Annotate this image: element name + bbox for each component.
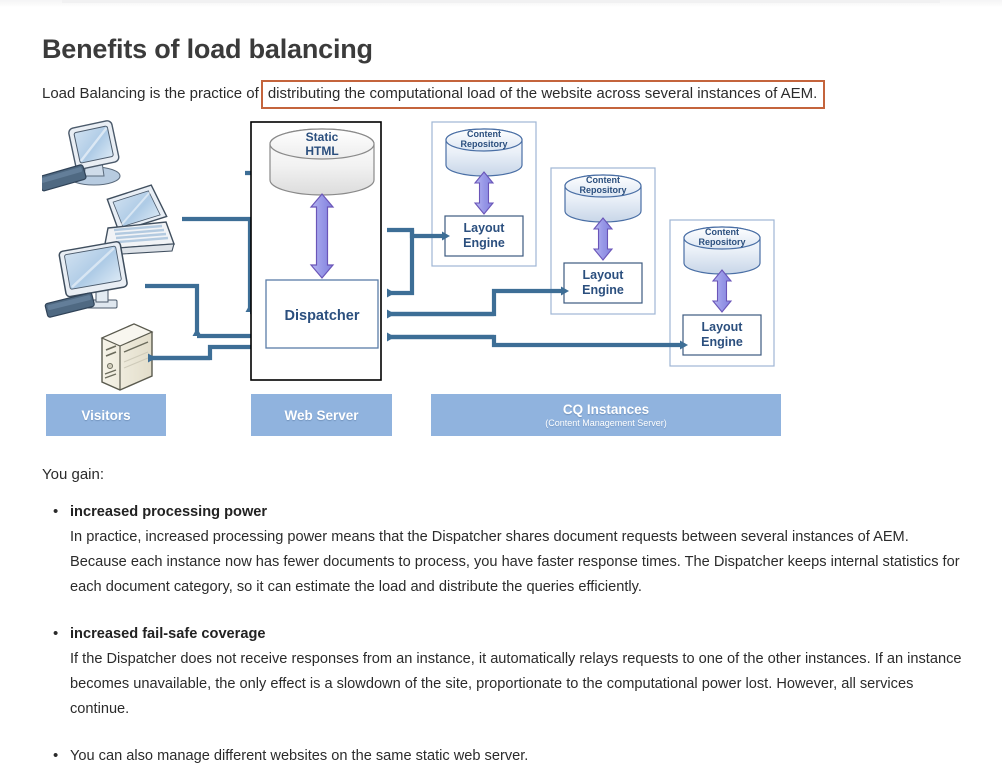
benefit-title: increased processing power	[70, 500, 967, 525]
intro-paragraph: Load Balancing is the practice ofdistrib…	[42, 84, 825, 109]
dispatcher-node: Dispatcher	[266, 280, 378, 348]
list-item: You can also manage different websites o…	[70, 744, 967, 769]
intro-lead-text: Load Balancing is the practice of	[42, 84, 259, 104]
layout-engine-3: Layout Engine	[683, 315, 761, 355]
cq-instance-2: Content Repository Layout Engine	[551, 168, 655, 314]
benefit-text: If the Dispatcher does not receive respo…	[70, 647, 967, 722]
arrow-engine-1-to-dispatcher	[387, 230, 412, 293]
svg-text:Content: Content	[467, 129, 501, 139]
cq-instance-3: Content Repository Layout Engine	[670, 220, 774, 366]
content-repository-2: Content Repository	[565, 175, 641, 222]
legend-cq-sublabel: (Content Management Server)	[545, 418, 667, 428]
layout-engine-2: Layout Engine	[564, 263, 642, 303]
list-item: increased processing power In practice, …	[70, 500, 967, 600]
svg-text:Layout: Layout	[464, 221, 506, 235]
svg-text:Content: Content	[586, 175, 620, 185]
content-repository-3: Content Repository	[684, 227, 760, 274]
svg-text:Static: Static	[306, 130, 339, 144]
benefits-list: increased processing power In practice, …	[42, 500, 967, 771]
legend-bar-web-server: Web Server	[251, 394, 392, 436]
web-server-container: Static HTML Dispatcher	[251, 122, 381, 380]
arrow-to-laptop	[182, 219, 250, 312]
page-title: Benefits of load balancing	[42, 34, 373, 65]
static-html-store: Static HTML	[270, 129, 374, 195]
legend-bar-cq-instances: CQ Instances (Content Management Server)	[431, 394, 781, 436]
svg-text:Repository: Repository	[460, 139, 507, 149]
page-top-edge	[0, 0, 1002, 7]
highlighted-selection[interactable]: distributing the computational load of t…	[261, 80, 825, 109]
svg-text:Layout: Layout	[702, 320, 744, 334]
legend-visitors-label: Visitors	[81, 408, 130, 423]
cq-instance-1: Content Repository Layout Engine	[432, 122, 536, 266]
page-root: Benefits of load balancing Load Balancin…	[0, 0, 1002, 771]
svg-text:Engine: Engine	[582, 283, 624, 297]
list-item: increased fail-safe coverage If the Disp…	[70, 622, 967, 722]
benefit-text: In practice, increased processing power …	[70, 525, 967, 600]
client-tower-server	[102, 324, 152, 390]
legend-bar-visitors: Visitors	[46, 394, 166, 436]
svg-text:Engine: Engine	[463, 236, 505, 250]
client-desktop-monitor	[42, 120, 120, 192]
arrow-to-flat-monitor	[145, 286, 197, 336]
benefit-text: You can also manage different websites o…	[70, 744, 967, 769]
legend-cq-label: CQ Instances	[563, 402, 649, 417]
svg-text:Repository: Repository	[579, 185, 626, 195]
benefit-title: increased fail-safe coverage	[70, 622, 967, 647]
svg-text:Content: Content	[705, 227, 739, 237]
layout-engine-1: Layout Engine	[445, 216, 523, 256]
svg-text:Engine: Engine	[701, 335, 743, 349]
client-flat-monitor	[45, 241, 128, 318]
svg-text:Layout: Layout	[583, 268, 625, 282]
you-gain-label: You gain:	[42, 466, 104, 483]
content-repository-1: Content Repository	[446, 129, 522, 176]
svg-text:Dispatcher: Dispatcher	[285, 308, 360, 324]
legend-web-server-label: Web Server	[284, 408, 358, 423]
load-balancing-diagram: Static HTML Dispatcher	[42, 118, 787, 438]
svg-text:HTML: HTML	[305, 144, 338, 158]
svg-text:Repository: Repository	[698, 237, 745, 247]
